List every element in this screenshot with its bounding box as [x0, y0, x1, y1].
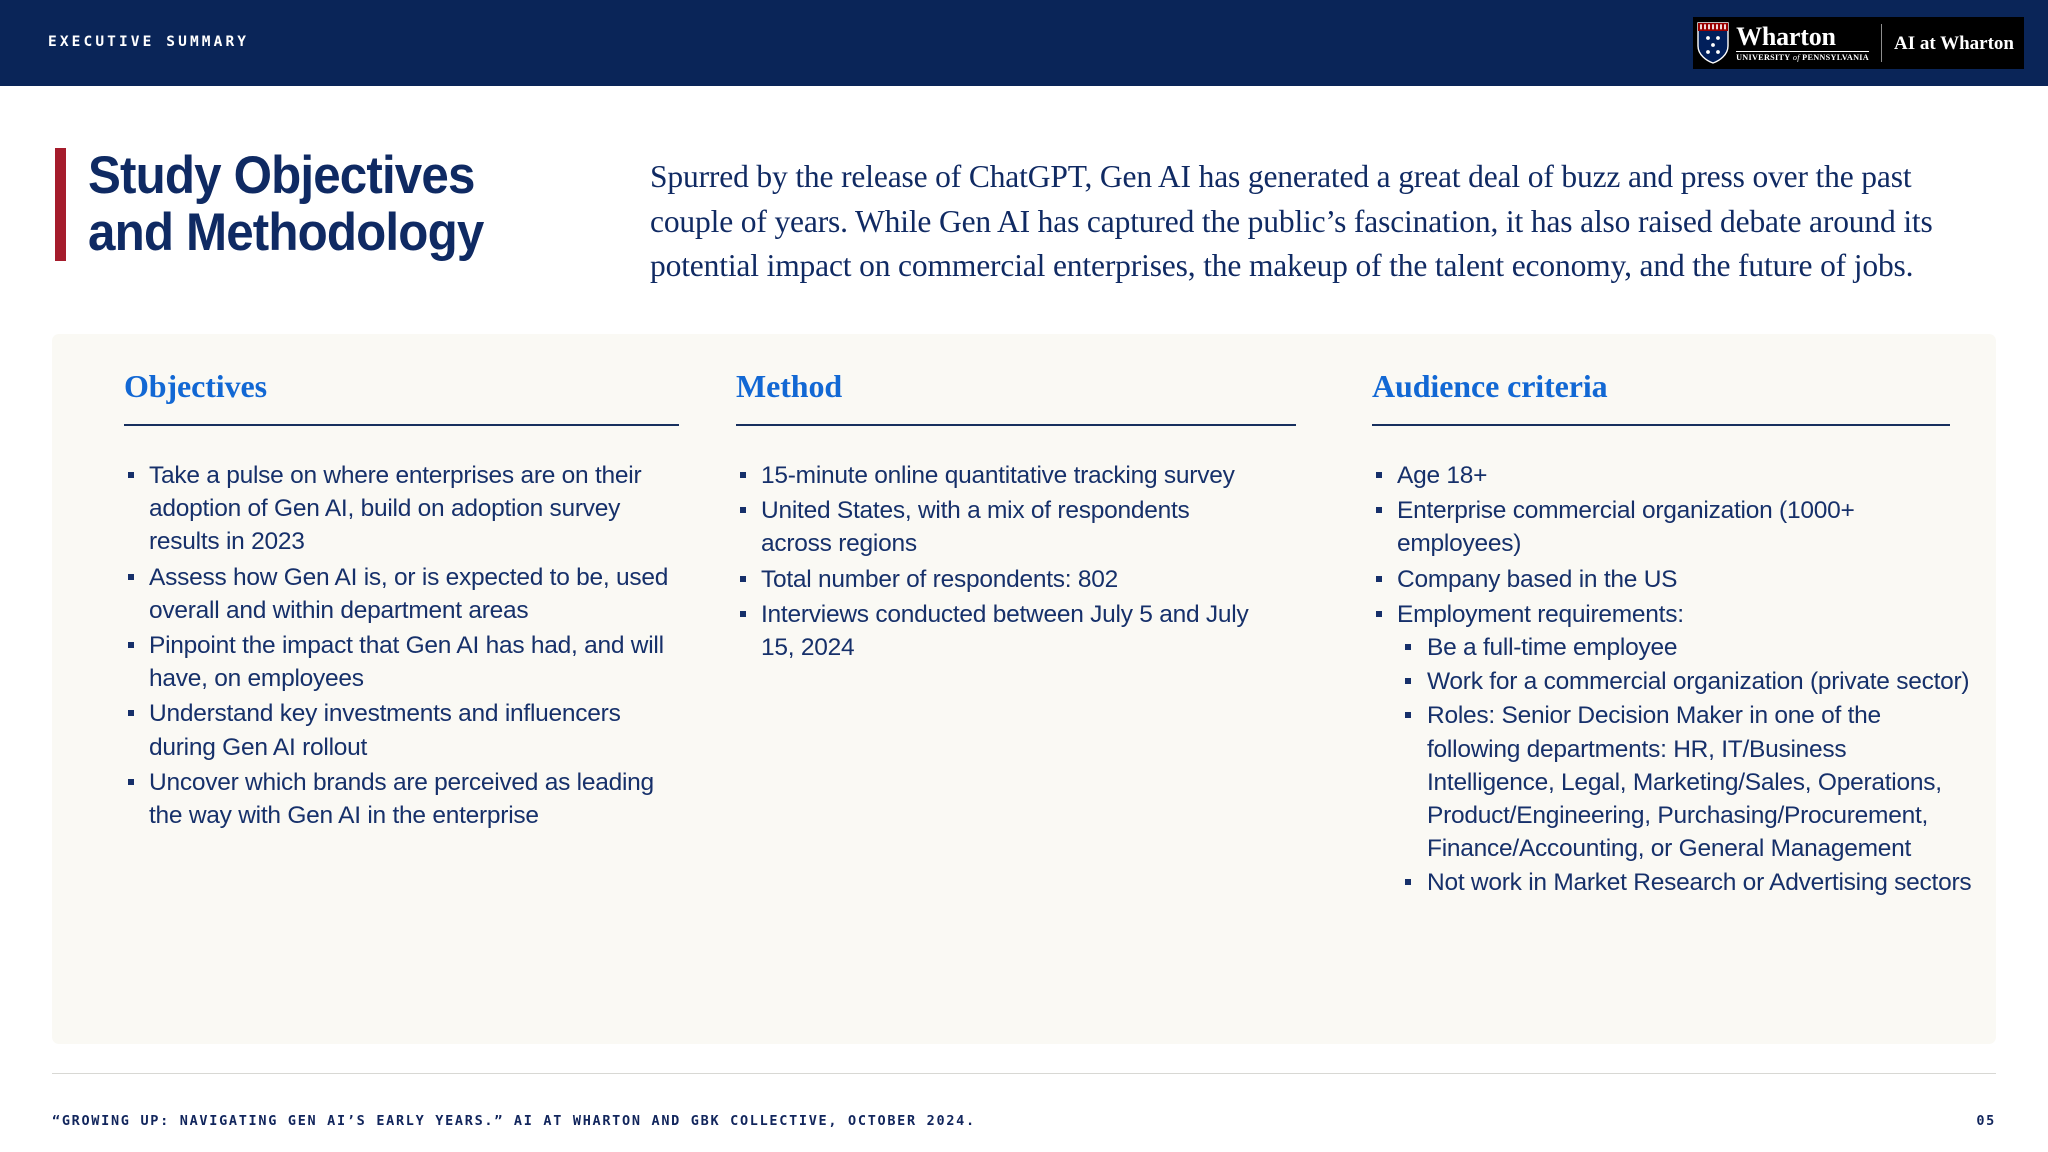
list-item: Employment requirements: Be a full-time … — [1372, 598, 1972, 900]
bullet-text: Be a full-time employee — [1427, 634, 1677, 661]
list-item: Age 18+ — [1372, 459, 1972, 492]
bullet-text: Uncover which brands are perceived as le… — [149, 769, 654, 829]
list-item: 15-minute online quantitative tracking s… — [736, 459, 1256, 492]
column-heading-method: Method — [736, 370, 1294, 402]
list-item: United States, with a mix of respondents… — [736, 494, 1256, 560]
wharton-logo-lockup: Wharton UNIVERSITY of PENNSYLVANIA AI at… — [1693, 17, 2024, 69]
column-heading-audience: Audience criteria — [1372, 370, 1958, 402]
content-card: Objectives Take a pulse on where enterpr… — [52, 334, 1996, 1044]
list-item: Roles: Senior Decision Maker in one of t… — [1399, 699, 1979, 865]
top-header-bar: EXECUTIVE SUMMARY — [0, 0, 2048, 86]
bullet-text: Understand key investments and influence… — [149, 700, 621, 760]
title-accent-bar — [55, 148, 66, 261]
list-item: Work for a commercial organization (priv… — [1399, 665, 1979, 698]
objectives-bullet-list: Take a pulse on where enterprises are on… — [124, 459, 654, 832]
bullet-text: United States, with a mix of respondents… — [761, 497, 1190, 557]
list-item: Company based in the US — [1372, 563, 1972, 596]
intro-paragraph: Spurred by the release of ChatGPT, Gen A… — [650, 155, 1970, 289]
page-title: Study Objectives and Methodology — [88, 148, 483, 261]
bullet-text: Enterprise commercial organization (1000… — [1397, 497, 1855, 557]
bullet-text: Assess how Gen AI is, or is expected to … — [149, 564, 668, 624]
wharton-sub-post: PENNSYLVANIA — [1802, 53, 1869, 62]
ai-at-wharton-unit-label: AI at Wharton — [1894, 34, 2014, 53]
bullet-text: Company based in the US — [1397, 566, 1677, 593]
bullet-text: Roles: Senior Decision Maker in one of t… — [1427, 702, 1942, 862]
bullet-text: 15-minute online quantitative tracking s… — [761, 462, 1235, 489]
wharton-sub-pre: UNIVERSITY — [1736, 53, 1790, 62]
footer-citation: “GROWING UP: NAVIGATING GEN AI’S EARLY Y… — [52, 1113, 976, 1129]
list-item: Understand key investments and influence… — [124, 697, 689, 763]
list-item: Be a full-time employee — [1399, 631, 1979, 664]
bullet-text: Age 18+ — [1397, 462, 1487, 489]
wharton-sub-of: of — [1790, 53, 1802, 62]
bullet-text: Total number of respondents: 802 — [761, 566, 1118, 593]
list-item: Enterprise commercial organization (1000… — [1372, 494, 1972, 560]
slide: EXECUTIVE SUMMARY — [0, 0, 2048, 1152]
list-item: Interviews conducted between July 5 and … — [736, 598, 1256, 664]
wharton-wordmark: Wharton UNIVERSITY of PENNSYLVANIA — [1736, 24, 1882, 62]
list-item: Total number of respondents: 802 — [736, 563, 1256, 596]
column-audience-criteria: Audience criteria Age 18+ Enterprise com… — [1332, 370, 1996, 1044]
bullet-text: Work for a commercial organization (priv… — [1427, 668, 1969, 695]
list-item: Not work in Market Research or Advertisi… — [1399, 866, 1979, 899]
penn-shield-icon — [1697, 22, 1729, 64]
footer-divider — [52, 1073, 1996, 1074]
column-method: Method 15-minute online quantitative tra… — [692, 370, 1332, 1044]
bullet-text: Interviews conducted between July 5 and … — [761, 601, 1248, 661]
bullet-text: Take a pulse on where enterprises are on… — [149, 462, 641, 555]
audience-sub-bullet-list: Be a full-time employee Work for a comme… — [1397, 631, 1972, 900]
list-item: Uncover which brands are perceived as le… — [124, 766, 689, 832]
column-objectives: Objectives Take a pulse on where enterpr… — [52, 370, 692, 1044]
bullet-text: Not work in Market Research or Advertisi… — [1427, 869, 1971, 896]
list-item: Assess how Gen AI is, or is expected to … — [124, 561, 689, 627]
page-title-line-2: and Methodology — [88, 205, 483, 262]
wharton-wordmark-subtitle: UNIVERSITY of PENNSYLVANIA — [1736, 54, 1869, 62]
list-item: Take a pulse on where enterprises are on… — [124, 459, 689, 559]
bullet-text: Employment requirements: — [1397, 601, 1684, 628]
method-bullet-list: 15-minute online quantitative tracking s… — [736, 459, 1294, 664]
bullet-text: Pinpoint the impact that Gen AI has had,… — [149, 632, 664, 692]
page-title-block: Study Objectives and Methodology — [55, 148, 513, 261]
column-divider-audience — [1372, 424, 1950, 426]
page-title-line-1: Study Objectives — [88, 148, 483, 205]
column-heading-objectives: Objectives — [124, 370, 654, 402]
page-number: 05 — [1976, 1113, 1996, 1129]
column-divider-objectives — [124, 424, 679, 426]
audience-bullet-list: Age 18+ Enterprise commercial organizati… — [1372, 459, 1958, 899]
wharton-wordmark-name: Wharton — [1736, 24, 1869, 52]
column-divider-method — [736, 424, 1296, 426]
list-item: Pinpoint the impact that Gen AI has had,… — [124, 629, 689, 695]
section-eyebrow: EXECUTIVE SUMMARY — [48, 34, 249, 50]
